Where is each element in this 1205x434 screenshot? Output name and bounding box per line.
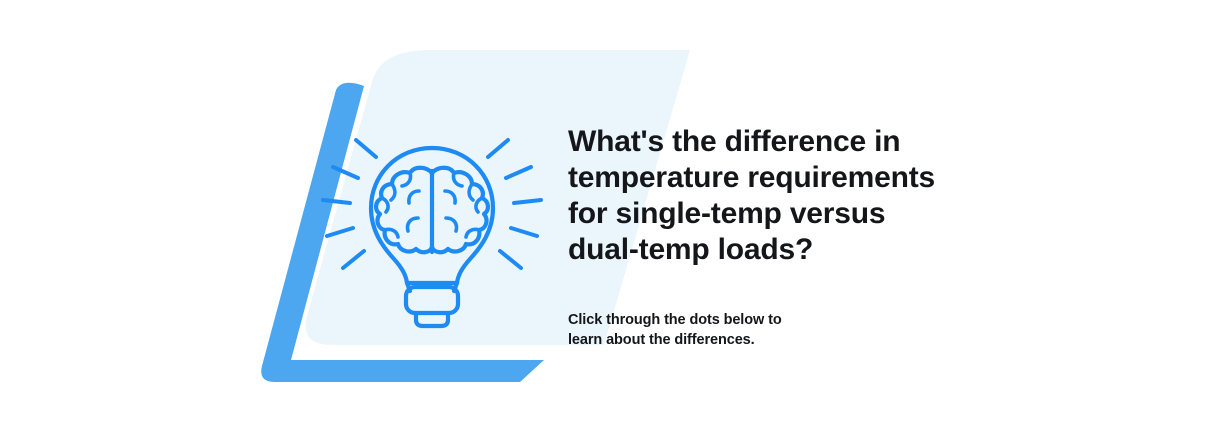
page-title: What's the difference in temperature req… [568,124,968,268]
slide-canvas: What's the difference in temperature req… [0,0,1205,434]
instruction-text: Click through the dots below to learn ab… [568,310,888,350]
